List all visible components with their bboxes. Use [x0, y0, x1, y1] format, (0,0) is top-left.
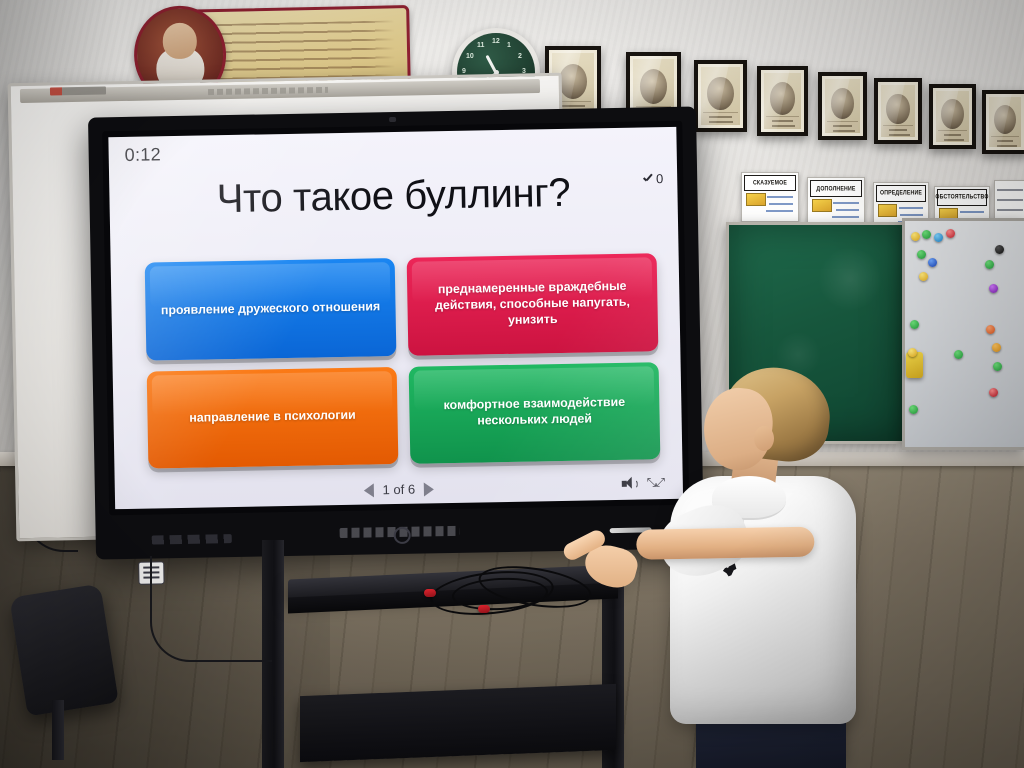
answer-grid: проявление дружеского отношения преднаме…: [145, 253, 661, 468]
author-portrait-frame: [874, 78, 922, 144]
grammar-poster-title: ДОПОЛНЕНИЕ: [816, 185, 855, 193]
countdown-timer: 0:12: [125, 144, 162, 166]
chair-stem: [52, 700, 64, 760]
clock-numeral: 10: [466, 53, 474, 60]
floor-cable: [150, 556, 272, 662]
clock-numeral: 12: [492, 38, 500, 45]
classroom-photo: 121234567891011 СКАЗУЕМОЕ: [0, 0, 1024, 768]
grammar-poster-title: ОПРЕДЕЛЕНИЕ: [880, 190, 922, 198]
author-portrait-frame: [757, 66, 808, 136]
grammar-poster-title: ОБСТОЯТЕЛЬСТВО: [935, 194, 988, 202]
cart-shelf-bottom: [300, 684, 616, 762]
answer-option-label: проявление дружеского отношения: [151, 299, 391, 319]
ir-sensor-icon: [393, 527, 410, 544]
panel-ports: [152, 534, 232, 544]
question-title: Что такое буллинг?: [109, 169, 678, 224]
camera-icon: [389, 117, 396, 122]
chevron-right-icon[interactable]: [424, 482, 434, 496]
grammar-poster-title: СКАЗУЕМОЕ: [753, 179, 787, 187]
answer-option-label: преднамеренные враждебные действия, спос…: [407, 278, 658, 330]
author-portrait-frame: [818, 72, 867, 140]
answer-option-label: направление в психологии: [179, 408, 366, 427]
answer-option-orange[interactable]: направление в психологии: [147, 366, 399, 468]
chair: [9, 584, 119, 717]
student-arm: [636, 527, 814, 560]
page-indicator: 1 of 6: [382, 482, 415, 498]
author-portrait-frame: [694, 60, 747, 132]
author-portrait-frame: [929, 84, 976, 149]
grammar-poster-skazuemoe: СКАЗУЕМОЕ: [741, 172, 799, 222]
answer-option-blue[interactable]: проявление дружеского отношения: [145, 258, 397, 360]
clock-numeral: 1: [507, 42, 511, 49]
chevron-left-icon[interactable]: [363, 483, 373, 497]
clock-numeral: 2: [518, 53, 522, 60]
cable-connector: [424, 589, 436, 597]
author-portrait-frame: [982, 90, 1024, 154]
brand-logo-icon: [50, 86, 106, 95]
cable-connector: [478, 605, 490, 613]
clock-numeral: 11: [477, 42, 484, 49]
student: [596, 330, 926, 768]
